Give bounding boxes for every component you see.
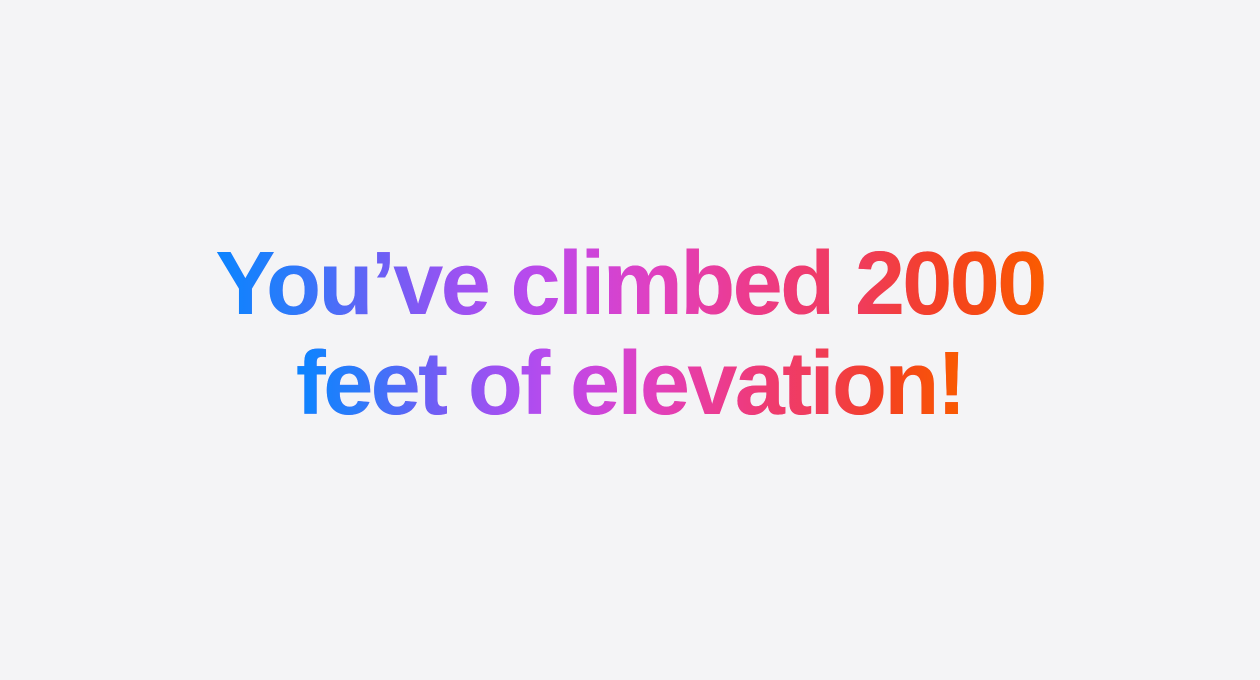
headline-line-2-text: feet of elevation!: [296, 334, 964, 434]
headline-line-1-text: You’ve climbed 2000: [215, 234, 1044, 334]
headline-line-1: You’ve climbed 2000: [0, 234, 1260, 334]
achievement-message: You’ve climbed 2000 feet of elevation!: [0, 234, 1260, 434]
elevation-message-screen: You’ve climbed 2000 feet of elevation!: [0, 0, 1260, 680]
headline-line-2: feet of elevation!: [0, 334, 1260, 434]
